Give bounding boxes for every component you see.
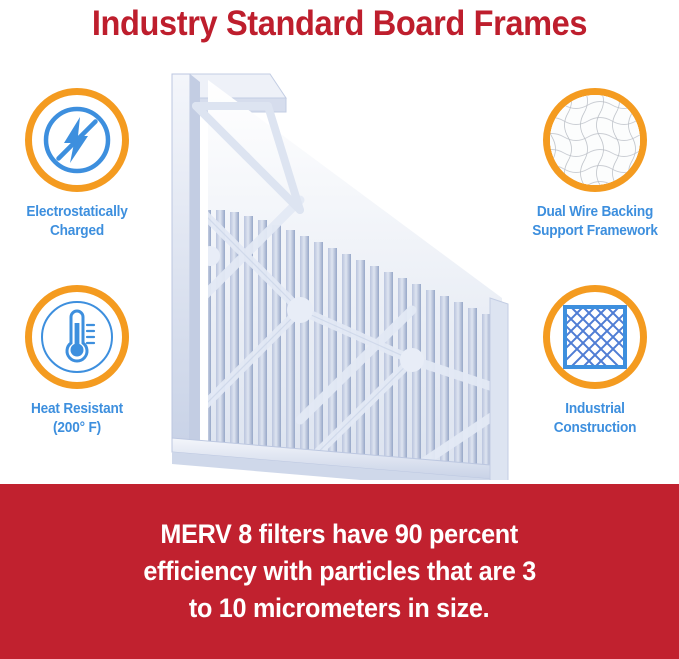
- filter-illustration: [150, 60, 530, 480]
- lattice-grid-icon: [559, 301, 631, 373]
- banner-line-1: MERV 8 filters have 90 percent: [161, 516, 519, 553]
- feature-label-line1: Dual Wire Backing: [515, 203, 675, 222]
- feature-label-line2: Charged: [0, 222, 157, 241]
- feature-icon-ring: [25, 88, 129, 192]
- feature-label-line1: Electrostatically: [0, 203, 157, 222]
- feature-label: Electrostatically Charged: [0, 203, 157, 241]
- feature-label-line1: Industrial: [515, 400, 675, 419]
- feature-icon-ring: [25, 285, 129, 389]
- feature-label: Dual Wire Backing Support Framework: [515, 203, 675, 241]
- feature-label-line2: Support Framework: [515, 222, 675, 241]
- banner-line-3: to 10 micrometers in size.: [189, 590, 489, 627]
- feature-label: Heat Resistant (200° F): [0, 400, 157, 438]
- feature-heat-resistant: Heat Resistant (200° F): [0, 285, 162, 438]
- wire-mesh-photo-icon: [550, 95, 640, 185]
- page-title: Industry Standard Board Frames: [24, 0, 655, 48]
- thermometer-icon: [37, 297, 117, 377]
- feature-icon-ring: [543, 285, 647, 389]
- feature-dual-wire-backing: Dual Wire Backing Support Framework: [510, 88, 679, 241]
- feature-label-line2: Construction: [515, 419, 675, 438]
- merv-info-banner: MERV 8 filters have 90 percent efficienc…: [0, 484, 679, 659]
- pleated-air-filter-image: [150, 60, 530, 480]
- no-static-bolt-icon: [40, 103, 114, 177]
- feature-label-line1: Heat Resistant: [0, 400, 157, 419]
- feature-label-line2: (200° F): [0, 419, 157, 438]
- banner-line-2: efficiency with particles that are 3: [143, 553, 536, 590]
- feature-industrial-construction: Industrial Construction: [510, 285, 679, 438]
- feature-label: Industrial Construction: [515, 400, 675, 438]
- feature-electrostatically-charged: Electrostatically Charged: [0, 88, 162, 241]
- feature-icon-ring: [543, 88, 647, 192]
